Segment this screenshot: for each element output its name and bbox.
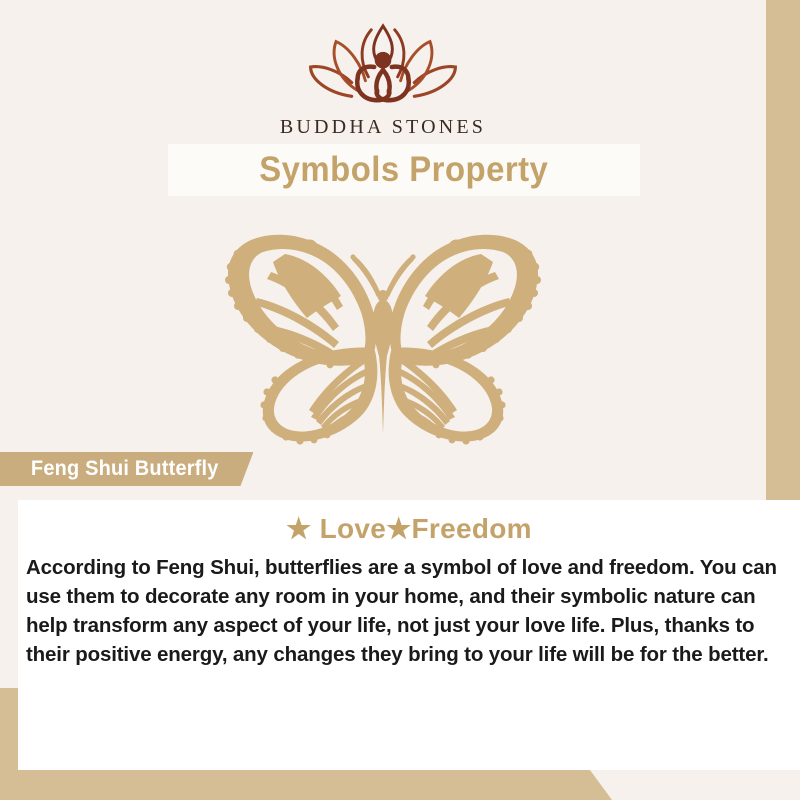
lotus-meditation-figure-icon <box>295 22 471 112</box>
butterfly-illustration <box>0 222 766 452</box>
banner-label: Feng Shui Butterfly <box>31 457 219 481</box>
poster-root: BUDDHA STONES Symbols Property <box>0 0 800 800</box>
brand-logo-block: BUDDHA STONES <box>0 22 766 139</box>
decorative-border-bottom <box>0 770 612 800</box>
page-title-band: Symbols Property <box>168 144 640 196</box>
description-section: ★ Love★Freedom According to Feng Shui, b… <box>18 500 800 770</box>
page-title: Symbols Property <box>259 150 548 190</box>
brand-name: BUDDHA STONES <box>0 116 766 139</box>
feng-shui-banner: Feng Shui Butterfly <box>0 452 253 486</box>
tagline: ★ Love★Freedom <box>18 512 800 545</box>
body-paragraph: According to Feng Shui, butterflies are … <box>26 553 792 669</box>
monarch-butterfly-icon <box>203 222 563 452</box>
